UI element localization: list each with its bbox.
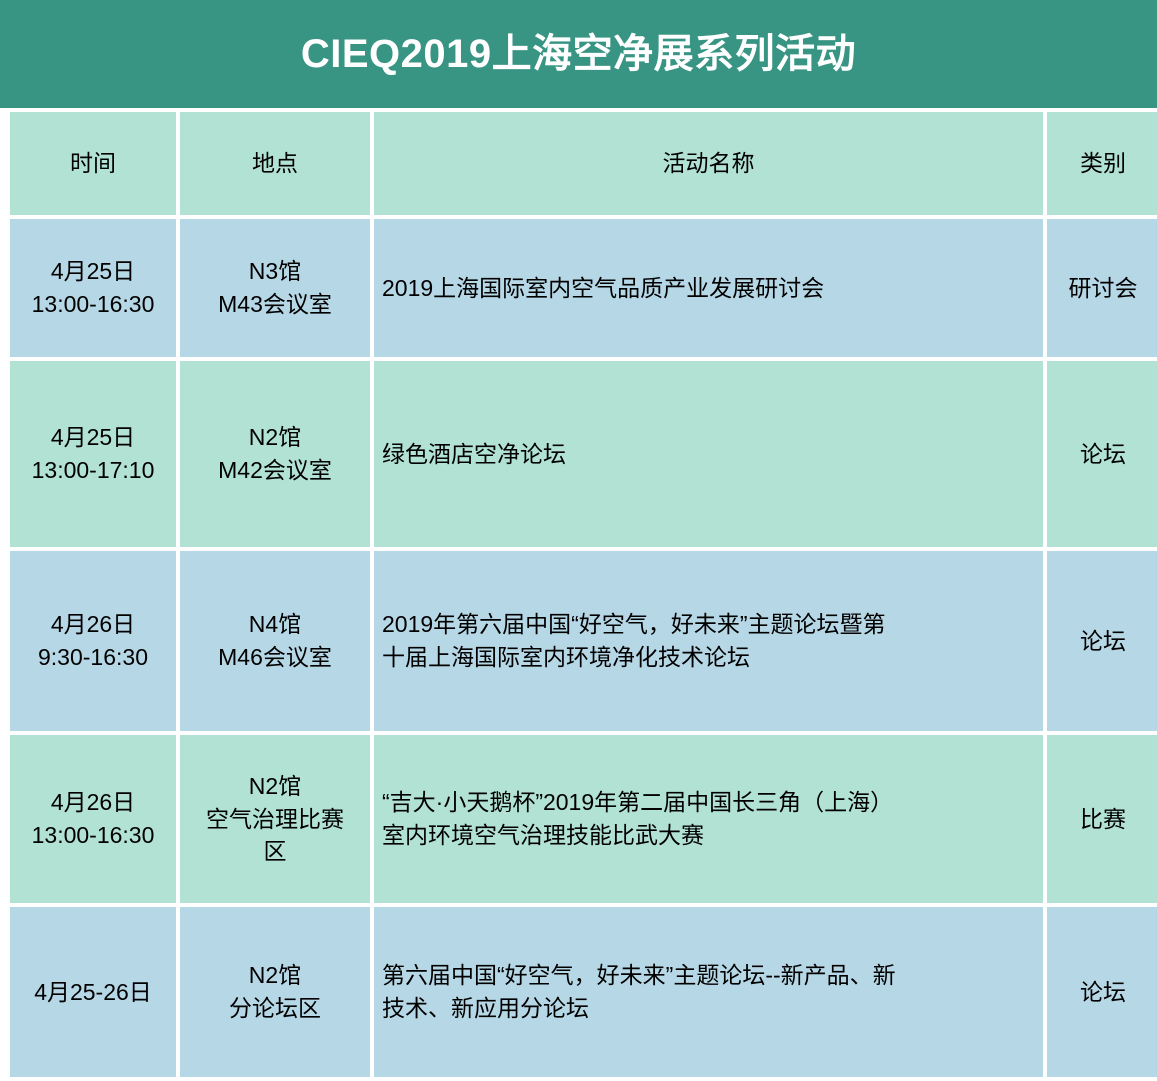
cell-activity-name: 2019上海国际室内空气品质产业发展研讨会 xyxy=(374,219,1043,357)
table-row: 4月25-26日 N2馆 分论坛区 第六届中国“好空气，好未来”主题论坛--新产… xyxy=(10,907,1157,1077)
table-body: 4月25日 13:00-16:30 N3馆 M43会议室 2019上海国际室内空… xyxy=(10,219,1157,1077)
cell-place: N4馆 M46会议室 xyxy=(180,551,370,731)
place-line: N4馆 xyxy=(188,608,362,641)
table-row: 4月26日 9:30-16:30 N4馆 M46会议室 2019年第六届中国“好… xyxy=(10,551,1157,731)
time-line: 13:00-17:10 xyxy=(18,454,168,487)
page-title: CIEQ2019上海空净展系列活动 xyxy=(301,34,856,74)
place-line: M46会议室 xyxy=(188,641,362,674)
activity-line: “吉大·小天鹅杯”2019年第二届中国长三角（上海） xyxy=(382,786,1035,819)
activity-line: 十届上海国际室内环境净化技术论坛 xyxy=(382,641,1035,674)
cell-activity-name: 第六届中国“好空气，好未来”主题论坛--新产品、新 技术、新应用分论坛 xyxy=(374,907,1043,1077)
activity-line: 绿色酒店空净论坛 xyxy=(382,438,1035,471)
cell-time: 4月25-26日 xyxy=(10,907,176,1077)
time-line: 4月25日 xyxy=(18,255,168,288)
table-row: 4月26日 13:00-16:30 N2馆 空气治理比赛 区 “吉大·小天鹅杯”… xyxy=(10,735,1157,903)
place-line: N3馆 xyxy=(188,255,362,288)
time-line: 13:00-16:30 xyxy=(18,819,168,852)
cell-activity-name: 2019年第六届中国“好空气，好未来”主题论坛暨第 十届上海国际室内环境净化技术… xyxy=(374,551,1043,731)
place-line: 空气治理比赛 xyxy=(188,803,362,836)
place-line: N2馆 xyxy=(188,421,362,454)
time-line: 4月26日 xyxy=(18,786,168,819)
place-line: M43会议室 xyxy=(188,288,362,321)
cell-place: N2馆 M42会议室 xyxy=(180,361,370,547)
time-line: 9:30-16:30 xyxy=(18,641,168,674)
column-header-time: 时间 xyxy=(10,112,176,215)
activity-line: 第六届中国“好空气，好未来”主题论坛--新产品、新 xyxy=(382,959,1035,992)
title-banner: CIEQ2019上海空净展系列活动 xyxy=(0,0,1157,108)
schedule-table: 时间 地点 活动名称 类别 4月25日 13:00-16:30 N3馆 M43会… xyxy=(6,108,1157,1081)
column-header-place: 地点 xyxy=(180,112,370,215)
schedule-table-wrapper: 时间 地点 活动名称 类别 4月25日 13:00-16:30 N3馆 M43会… xyxy=(0,108,1157,1081)
time-line: 13:00-16:30 xyxy=(18,288,168,321)
column-header-name: 活动名称 xyxy=(374,112,1043,215)
place-line: 分论坛区 xyxy=(188,992,362,1025)
cell-activity-name: “吉大·小天鹅杯”2019年第二届中国长三角（上海） 室内环境空气治理技能比武大… xyxy=(374,735,1043,903)
table-row: 4月25日 13:00-16:30 N3馆 M43会议室 2019上海国际室内空… xyxy=(10,219,1157,357)
cell-activity-name: 绿色酒店空净论坛 xyxy=(374,361,1043,547)
cell-time: 4月25日 13:00-17:10 xyxy=(10,361,176,547)
cell-time: 4月26日 9:30-16:30 xyxy=(10,551,176,731)
cell-category: 研讨会 xyxy=(1047,219,1157,357)
cell-category: 比赛 xyxy=(1047,735,1157,903)
time-line: 4月26日 xyxy=(18,608,168,641)
column-header-category: 类别 xyxy=(1047,112,1157,215)
place-line: N2馆 xyxy=(188,770,362,803)
place-line: N2馆 xyxy=(188,959,362,992)
cell-place: N3馆 M43会议室 xyxy=(180,219,370,357)
cell-place: N2馆 分论坛区 xyxy=(180,907,370,1077)
activity-line: 技术、新应用分论坛 xyxy=(382,992,1035,1025)
place-line: M42会议室 xyxy=(188,454,362,487)
table-row: 4月25日 13:00-17:10 N2馆 M42会议室 绿色酒店空净论坛 论坛 xyxy=(10,361,1157,547)
table-header-row: 时间 地点 活动名称 类别 xyxy=(10,112,1157,215)
cell-category: 论坛 xyxy=(1047,551,1157,731)
cell-time: 4月25日 13:00-16:30 xyxy=(10,219,176,357)
time-line: 4月25-26日 xyxy=(18,976,168,1009)
time-line: 4月25日 xyxy=(18,421,168,454)
activity-line: 2019上海国际室内空气品质产业发展研讨会 xyxy=(382,272,1035,305)
cell-category: 论坛 xyxy=(1047,361,1157,547)
cell-time: 4月26日 13:00-16:30 xyxy=(10,735,176,903)
cell-category: 论坛 xyxy=(1047,907,1157,1077)
activity-line: 2019年第六届中国“好空气，好未来”主题论坛暨第 xyxy=(382,608,1035,641)
place-line: 区 xyxy=(188,835,362,868)
cell-place: N2馆 空气治理比赛 区 xyxy=(180,735,370,903)
schedule-poster: CIEQ2019上海空净展系列活动 时间 地点 活动名称 类别 xyxy=(0,0,1157,1027)
activity-line: 室内环境空气治理技能比武大赛 xyxy=(382,819,1035,852)
